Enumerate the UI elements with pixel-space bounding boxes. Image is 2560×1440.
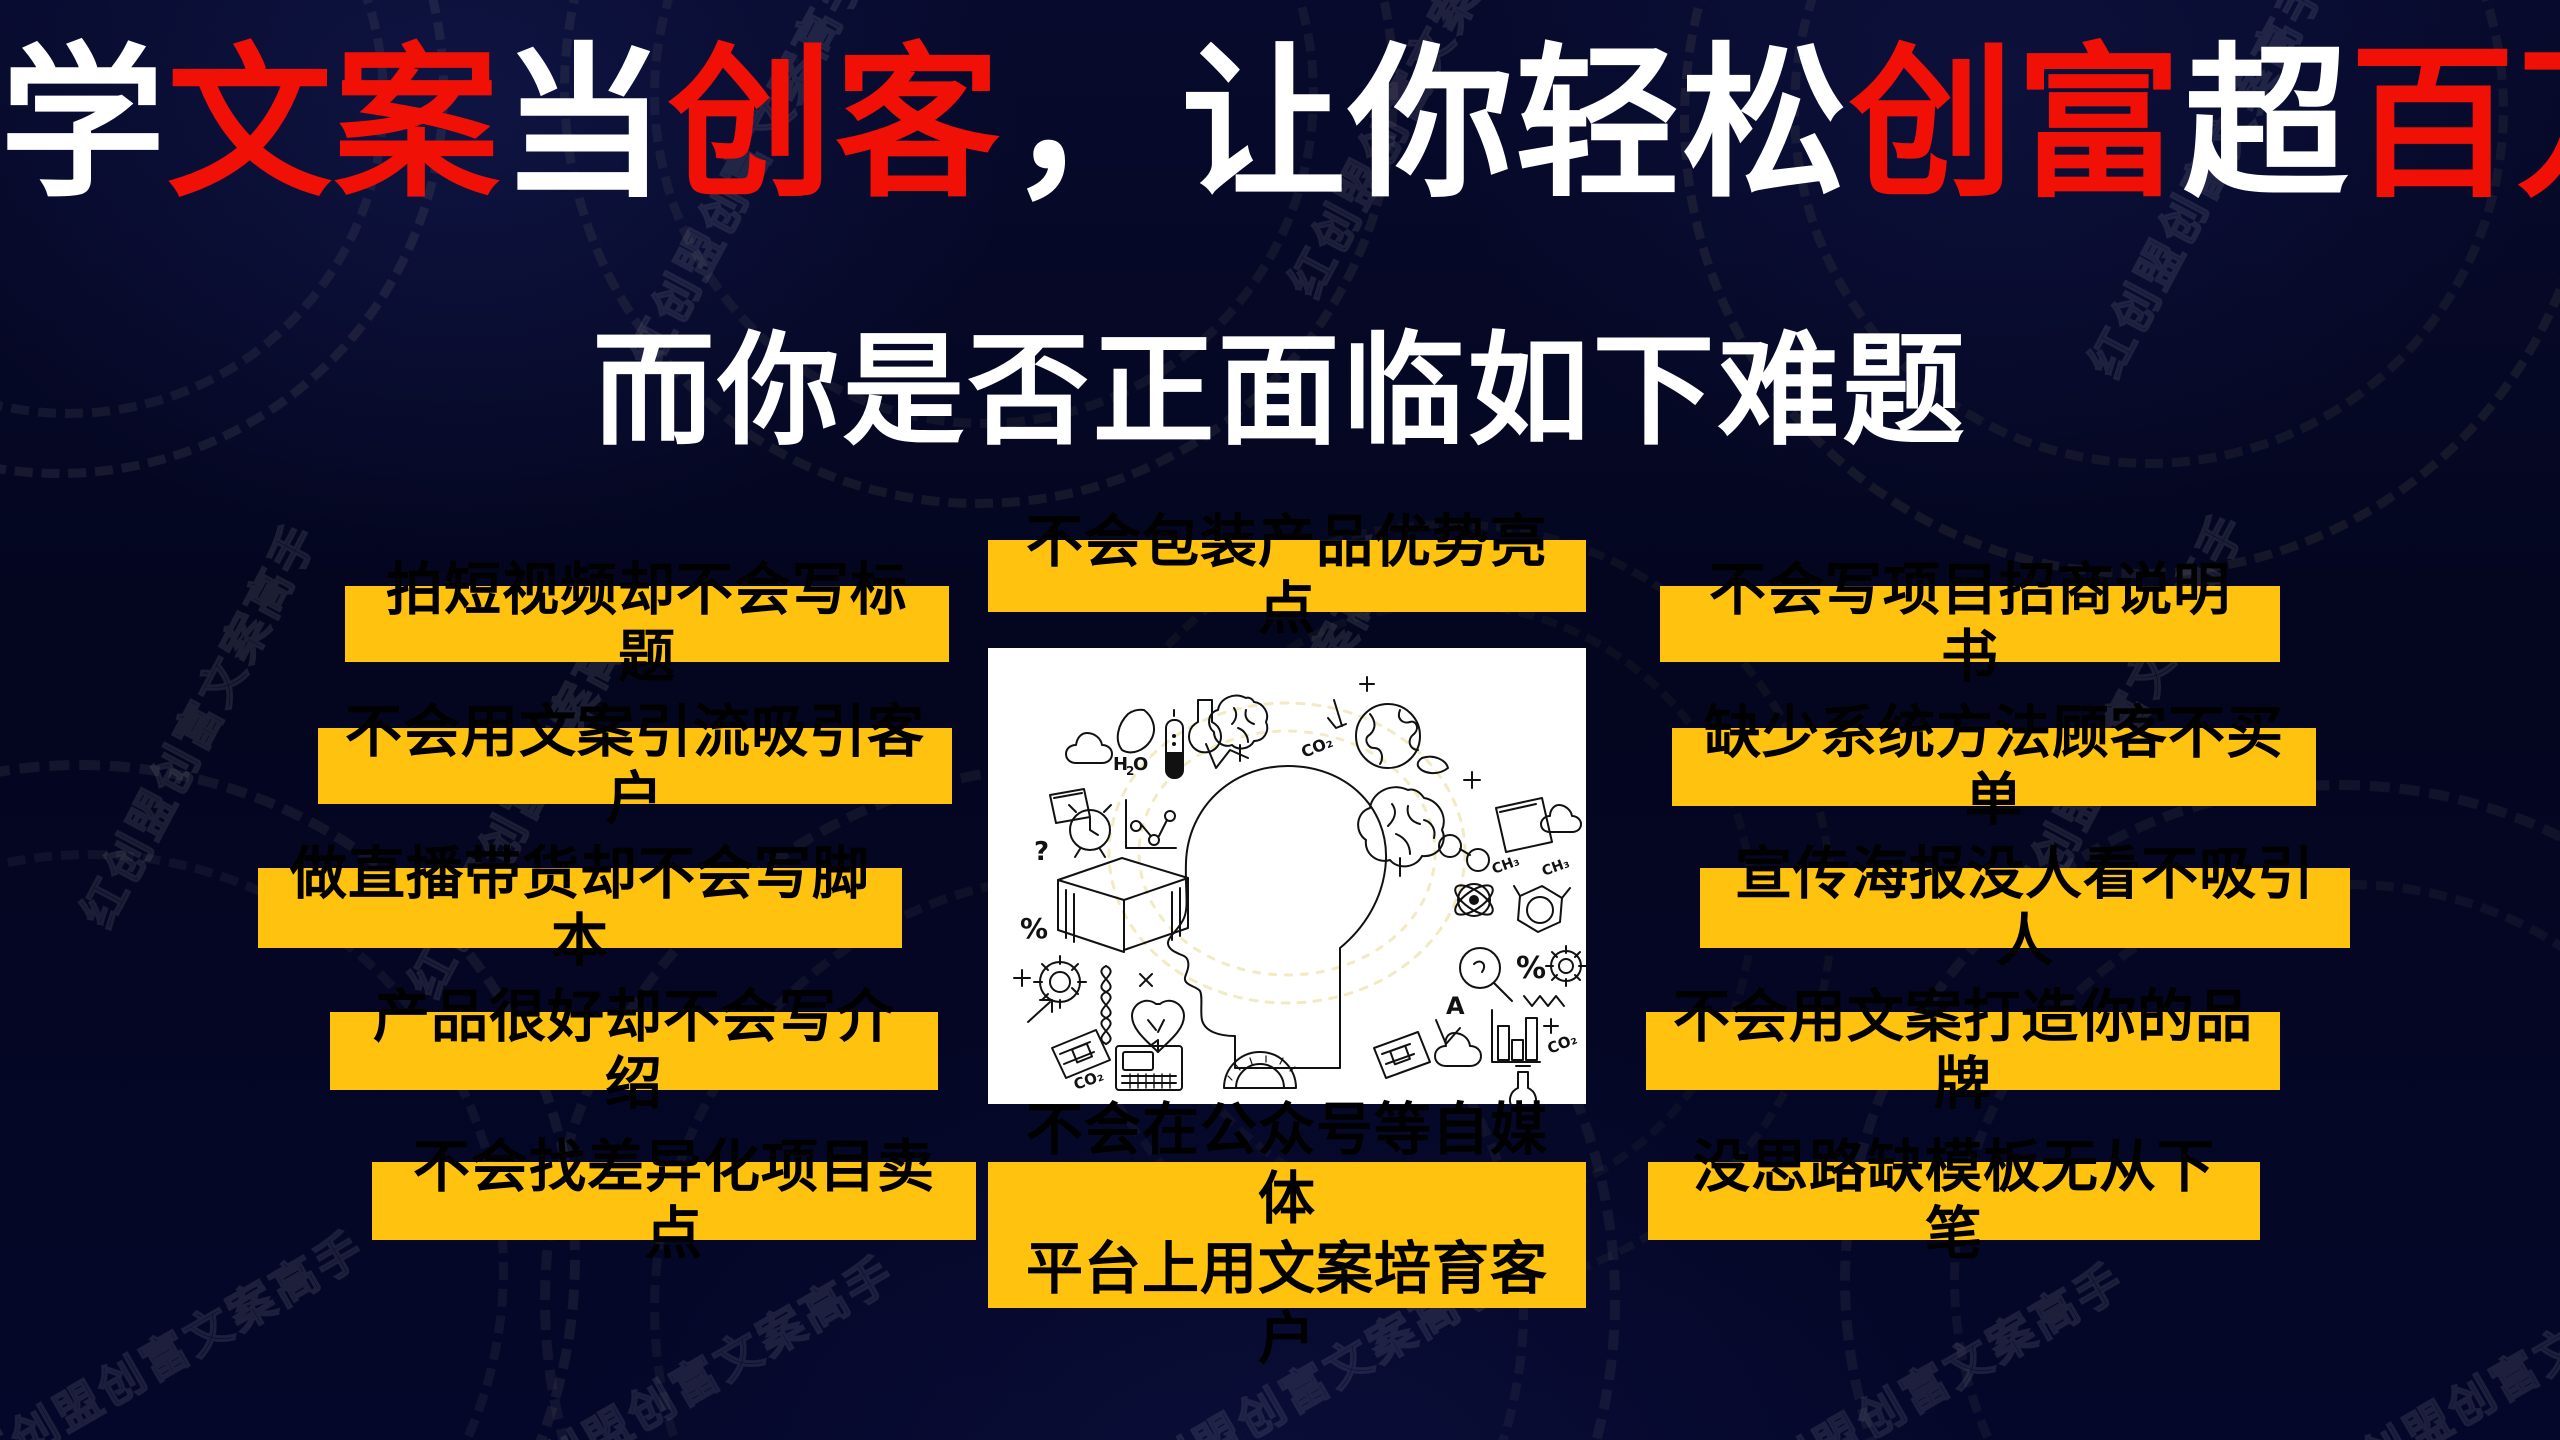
knowledge-head-illustration: H 2 O xyxy=(988,648,1586,1104)
headline: 学文案当创客，让你轻松创富超百万 xyxy=(0,42,2560,207)
slide-canvas: 红创盟创富文案高手 红创盟创富文案高手 红创盟创富文案高手 红创盟创富文案高手 … xyxy=(0,0,2560,1440)
pain-point-left-5[interactable]: 不会找差异化项目卖点 xyxy=(372,1162,976,1240)
headline-seg-3: 创客 xyxy=(668,28,1002,220)
headline-seg-1: 文案 xyxy=(167,28,501,220)
pain-point-left-3[interactable]: 做直播带货却不会写脚本 xyxy=(258,868,902,948)
headline-seg-5: 让你轻松 xyxy=(1181,28,1849,220)
svg-text:?: ? xyxy=(1034,837,1049,867)
pain-point-right-3[interactable]: 宣传海报没人看不吸引人 xyxy=(1700,868,2350,948)
watermark: 红创盟创富文案高手 xyxy=(0,1212,376,1440)
pain-point-center-top[interactable]: 不会包装产品优势亮点 xyxy=(988,540,1586,612)
svg-text:O: O xyxy=(1133,754,1148,775)
headline-seg-6: 创富 xyxy=(1849,28,2183,220)
pain-point-right-4[interactable]: 不会用文案打造你的品牌 xyxy=(1646,1012,2280,1090)
subheadline: 而你是否正面临如下难题 xyxy=(0,330,2560,452)
pain-point-left-2[interactable]: 不会用文案引流吸引客户 xyxy=(318,728,952,804)
pain-point-center-bottom-line2: 平台上用文案培育客户 xyxy=(1014,1235,1560,1374)
pain-point-right-5[interactable]: 没思路缺模板无从下笔 xyxy=(1648,1162,2260,1240)
headline-seg-8: 百万 xyxy=(2350,28,2560,220)
pain-point-right-2[interactable]: 缺少系统方法顾客不买单 xyxy=(1672,728,2316,806)
svg-text:%: % xyxy=(1516,951,1546,986)
pain-point-right-1[interactable]: 不会写项目招商说明书 xyxy=(1660,586,2280,662)
headline-seg-4: ， xyxy=(1002,28,1181,220)
pain-point-center-bottom[interactable]: 不会在公众号等自媒体 平台上用文案培育客户 xyxy=(988,1162,1586,1308)
pain-point-center-bottom-line1: 不会在公众号等自媒体 xyxy=(1014,1096,1560,1235)
headline-seg-7: 超 xyxy=(2183,28,2350,220)
watermark: 红创盟创富文案高手 xyxy=(1714,1244,2137,1440)
pain-point-left-4[interactable]: 产品很好却不会写介绍 xyxy=(330,1012,938,1090)
svg-text:A: A xyxy=(1446,992,1465,1020)
watermark: 红创盟创富文案高手 xyxy=(2304,1232,2560,1440)
pain-point-left-1[interactable]: 拍短视频却不会写标题 xyxy=(345,586,949,662)
svg-text:%: % xyxy=(1020,912,1048,945)
headline-seg-2: 当 xyxy=(501,28,668,220)
headline-seg-0: 学 xyxy=(0,28,167,220)
